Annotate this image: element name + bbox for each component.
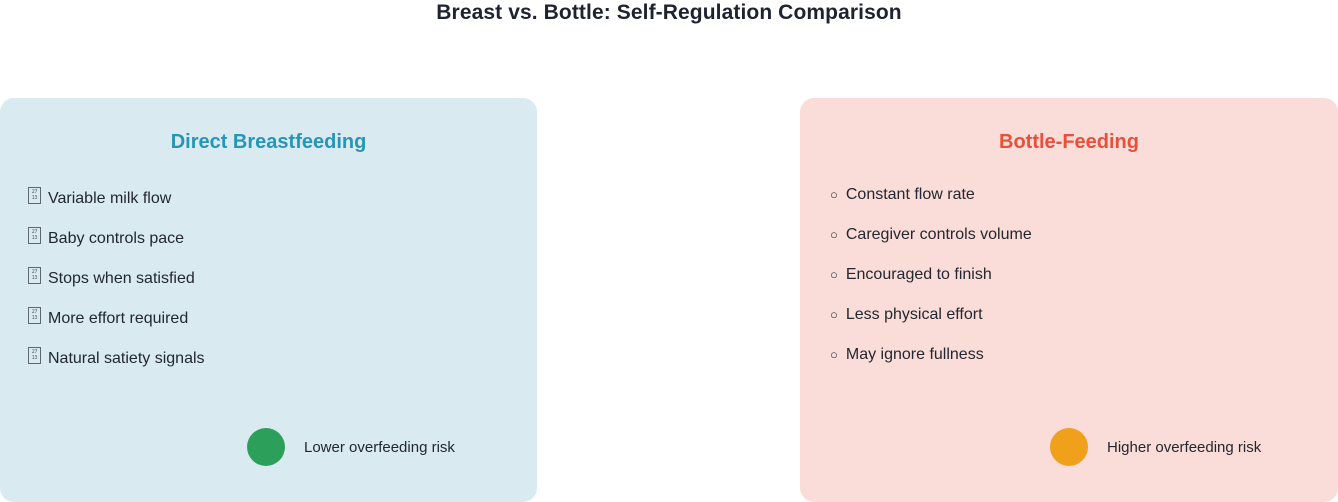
list-item-label: Caregiver controls volume bbox=[846, 226, 1032, 244]
check-mark-tofu-icon: 27 13 bbox=[28, 227, 41, 244]
list-item-label: Baby controls pace bbox=[48, 230, 184, 248]
risk-badge-lower: Lower overfeeding risk bbox=[247, 428, 455, 466]
check-mark-tofu-icon: 27 13 bbox=[28, 347, 41, 364]
page-title: Breast vs. Bottle: Self-Regulation Compa… bbox=[0, 0, 1338, 26]
list-item: 27 13 Natural satiety signals bbox=[28, 346, 205, 386]
check-mark-tofu-icon: 27 13 bbox=[28, 187, 41, 204]
list-item: 27 13 Baby controls pace bbox=[28, 226, 205, 266]
list-item-label: More effort required bbox=[48, 310, 188, 328]
check-mark-tofu-icon: 27 13 bbox=[28, 307, 41, 324]
feature-list-breastfeeding: 27 13 Variable milk flow 27 13 Baby cont… bbox=[28, 186, 205, 386]
hollow-circle-icon: ○ bbox=[830, 227, 838, 243]
hollow-circle-icon: ○ bbox=[830, 347, 838, 363]
list-item-label: Less physical effort bbox=[846, 306, 983, 324]
card-heading-breastfeeding: Direct Breastfeeding bbox=[0, 130, 537, 154]
check-mark-tofu-icon: 27 13 bbox=[28, 267, 41, 284]
list-item: ○ Less physical effort bbox=[830, 306, 1032, 346]
list-item: 27 13 Variable milk flow bbox=[28, 186, 205, 226]
list-item: ○ Constant flow rate bbox=[830, 186, 1032, 226]
feature-list-bottlefeeding: ○ Constant flow rate ○ Caregiver control… bbox=[830, 186, 1032, 386]
risk-badge-label: Lower overfeeding risk bbox=[304, 439, 455, 456]
list-item-label: Variable milk flow bbox=[48, 190, 171, 208]
risk-badge-label: Higher overfeeding risk bbox=[1107, 439, 1261, 456]
list-item: 27 13 More effort required bbox=[28, 306, 205, 346]
list-item: 27 13 Stops when satisfied bbox=[28, 266, 205, 306]
list-item: ○ May ignore fullness bbox=[830, 346, 1032, 386]
list-item-label: Encouraged to finish bbox=[846, 266, 992, 284]
list-item: ○ Encouraged to finish bbox=[830, 266, 1032, 306]
card-heading-bottlefeeding: Bottle-Feeding bbox=[800, 130, 1338, 154]
list-item-label: May ignore fullness bbox=[846, 346, 984, 364]
hollow-circle-icon: ○ bbox=[830, 307, 838, 323]
green-circle-icon bbox=[247, 428, 285, 466]
list-item-label: Natural satiety signals bbox=[48, 350, 205, 368]
orange-circle-icon bbox=[1050, 428, 1088, 466]
hollow-circle-icon: ○ bbox=[830, 187, 838, 203]
list-item-label: Stops when satisfied bbox=[48, 270, 195, 288]
risk-badge-higher: Higher overfeeding risk bbox=[1050, 428, 1261, 466]
comparison-card-breastfeeding: Direct Breastfeeding 27 13 Variable milk… bbox=[0, 98, 537, 502]
comparison-card-bottlefeeding: Bottle-Feeding ○ Constant flow rate ○ Ca… bbox=[800, 98, 1338, 502]
hollow-circle-icon: ○ bbox=[830, 267, 838, 283]
list-item: ○ Caregiver controls volume bbox=[830, 226, 1032, 266]
list-item-label: Constant flow rate bbox=[846, 186, 975, 204]
